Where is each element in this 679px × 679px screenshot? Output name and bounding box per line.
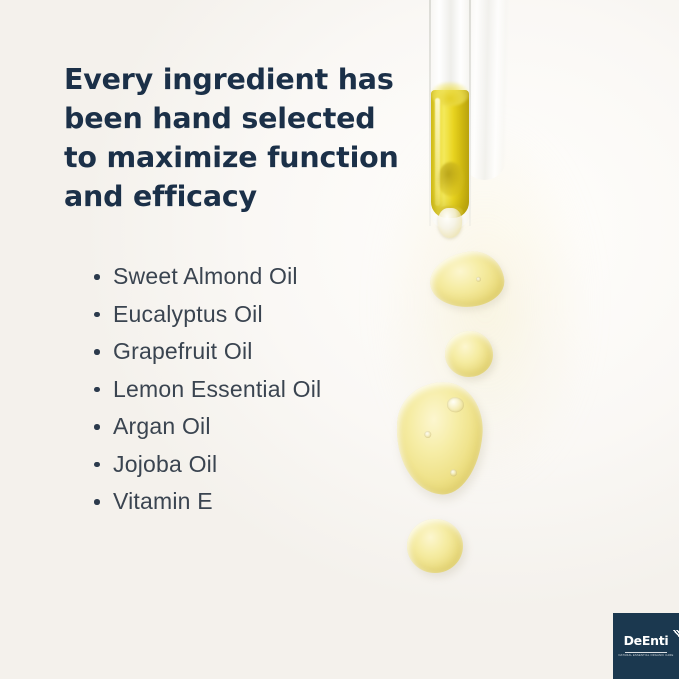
ingredient-label: Sweet Almond Oil bbox=[113, 263, 298, 289]
list-item: Eucalyptus Oil bbox=[92, 296, 392, 334]
headline-line-2: been hand selected bbox=[64, 99, 394, 138]
product-infographic: Every ingredient has been hand selected … bbox=[0, 0, 679, 679]
droplet-bubble bbox=[450, 469, 458, 477]
logo-divider bbox=[625, 652, 667, 653]
list-item: Sweet Almond Oil bbox=[92, 258, 392, 296]
oil-droplet-bottom-round bbox=[407, 519, 463, 573]
brand-name: DeEnti bbox=[624, 634, 669, 647]
bullet-icon bbox=[94, 274, 100, 280]
list-item: Jojoba Oil bbox=[92, 446, 392, 484]
pipette-tip-droplet bbox=[438, 208, 462, 238]
bullet-icon bbox=[94, 387, 100, 393]
bullet-icon bbox=[94, 462, 100, 468]
ingredient-label: Vitamin E bbox=[113, 488, 213, 514]
list-item: Grapefruit Oil bbox=[92, 333, 392, 371]
pipette-edge-right bbox=[469, 0, 471, 226]
list-item: Argan Oil bbox=[92, 408, 392, 446]
oil-droplet-small-round bbox=[445, 331, 493, 377]
brand-badge: DeEnti NATURAL ESSENTIAL ORGANIC CARE bbox=[613, 613, 679, 679]
ingredient-label: Eucalyptus Oil bbox=[113, 301, 263, 327]
headline-line-4: and efficacy bbox=[64, 177, 394, 216]
list-item: Vitamin E bbox=[92, 483, 392, 521]
list-item: Lemon Essential Oil bbox=[92, 371, 392, 409]
headline-line-1: Every ingredient has bbox=[64, 60, 394, 99]
bullet-icon bbox=[94, 349, 100, 355]
brand-logo: DeEnti NATURAL ESSENTIAL ORGANIC CARE bbox=[619, 632, 674, 658]
ingredient-label: Lemon Essential Oil bbox=[113, 376, 321, 402]
ingredient-label: Argan Oil bbox=[113, 413, 211, 439]
ingredient-label: Grapefruit Oil bbox=[113, 338, 253, 364]
bullet-icon bbox=[94, 312, 100, 318]
bullet-icon bbox=[94, 499, 100, 505]
droplet-bubble bbox=[424, 431, 432, 439]
ingredient-list: Sweet Almond Oil Eucalyptus Oil Grapefru… bbox=[92, 258, 392, 521]
droplet-bubble bbox=[446, 397, 464, 413]
bullet-icon bbox=[94, 424, 100, 430]
droplet-bubble bbox=[476, 277, 481, 282]
ingredient-label: Jojoba Oil bbox=[113, 451, 217, 477]
headline-line-3: to maximize function bbox=[64, 138, 394, 177]
brand-tagline: NATURAL ESSENTIAL ORGANIC CARE bbox=[619, 654, 674, 658]
leaf-sprout-icon bbox=[673, 630, 679, 638]
pipette-oil-bubble bbox=[438, 162, 464, 196]
glass-dropper-pipette bbox=[418, 0, 530, 246]
pipette-glass-highlight bbox=[435, 98, 440, 206]
headline: Every ingredient has been hand selected … bbox=[64, 60, 394, 216]
